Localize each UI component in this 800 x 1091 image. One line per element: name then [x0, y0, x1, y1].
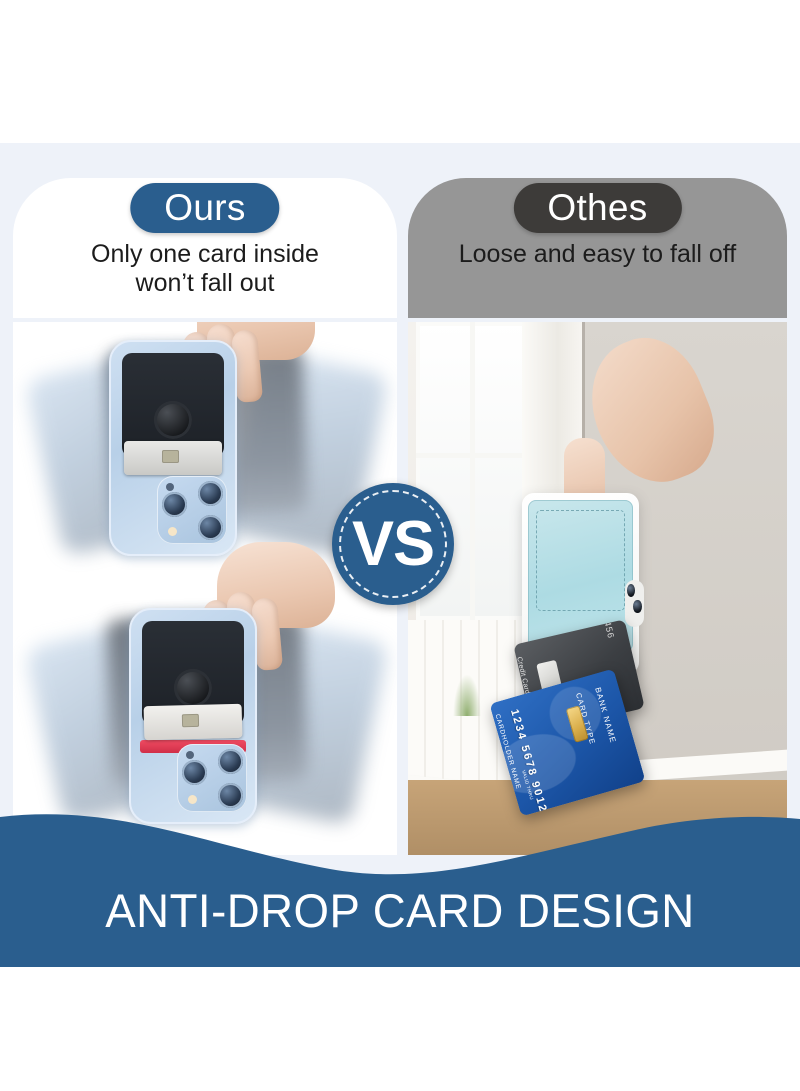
photo-cards-falling-out: Credit Card 3456 CARDHOLDER NAME 1234 56… [408, 322, 787, 855]
inserted-card [124, 441, 222, 475]
camera-lens-1 [182, 760, 207, 785]
card-chip-icon [182, 714, 199, 727]
vs-label: VS [352, 513, 434, 576]
camera-lens-1 [162, 492, 187, 517]
vs-badge: VS [332, 483, 454, 605]
inserted-card-white [144, 704, 243, 741]
ours-subtitle: Only one card inside won’t fall out [21, 240, 389, 298]
plant [453, 674, 481, 716]
window-mullion-horizontal [416, 453, 530, 458]
camera-lens-1 [627, 584, 635, 597]
panel-ours-body [13, 322, 397, 855]
others-subtitle: Loose and easy to fall off [416, 240, 779, 269]
card-bank-label: BANK NAME [593, 687, 618, 745]
phone-case-front [129, 608, 257, 824]
magsafe-ring [174, 669, 212, 707]
others-title-pill: Othes [513, 183, 681, 233]
window-mullion-vertical [470, 322, 475, 620]
camera-module [157, 476, 227, 544]
camera-flash-icon [168, 527, 177, 536]
product-comparison-graphic: Ours Only one card inside won’t fall out [0, 0, 800, 1091]
camera-sensor-icon [186, 751, 194, 759]
camera-lens-3 [198, 515, 223, 540]
panel-others: Othes Loose and easy to fall off [408, 178, 787, 855]
panel-others-body: Credit Card 3456 CARDHOLDER NAME 1234 56… [408, 322, 787, 855]
bottom-banner: ANTI-DROP CARD DESIGN [0, 795, 800, 967]
camera-lens-2 [198, 481, 223, 506]
banner-headline: ANTI-DROP CARD DESIGN [12, 883, 788, 938]
camera-sensor-icon [166, 483, 174, 491]
camera-lens-2 [218, 749, 243, 774]
panel-others-header: Othes Loose and easy to fall off [408, 178, 787, 318]
camera-lens-2 [633, 600, 641, 613]
panel-ours-header: Ours Only one card inside won’t fall out [13, 178, 397, 318]
magsafe-ring [154, 401, 192, 439]
phone-case-front [109, 340, 237, 556]
phone-camera-module [625, 580, 644, 627]
card-chip-icon [162, 450, 179, 463]
banner-wave-shape [0, 795, 800, 967]
ours-title-pill: Ours [130, 183, 279, 233]
stitching-detail [536, 510, 625, 610]
